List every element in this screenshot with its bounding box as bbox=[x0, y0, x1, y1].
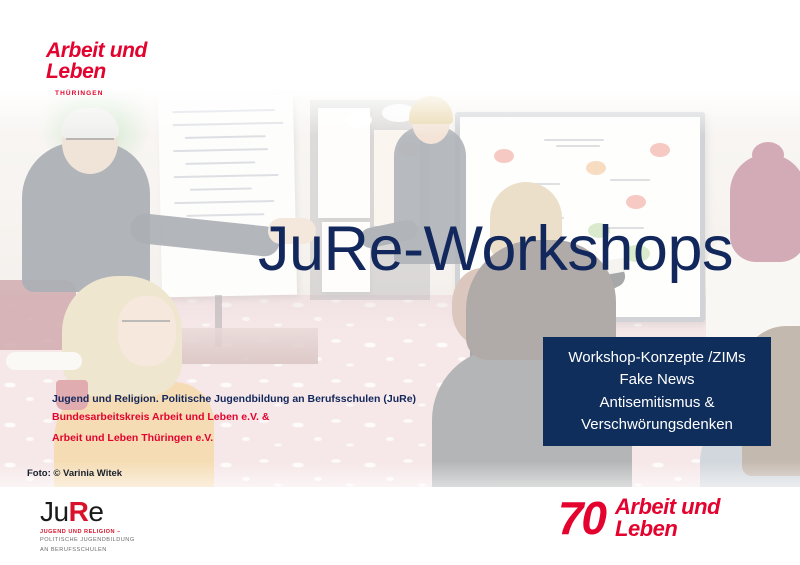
jure-r: R bbox=[69, 496, 89, 527]
jure-wordmark: JuRe bbox=[40, 498, 135, 526]
jure-subtitle-1: JUGEND UND RELIGION – bbox=[40, 529, 135, 535]
credit-organisation-2: Arbeit und Leben Thüringen e.V. bbox=[52, 430, 416, 448]
topic-line-2: Fake News bbox=[619, 369, 694, 392]
anniversary-wordmark: Arbeit und Leben bbox=[615, 496, 720, 540]
anniversary-line1: Arbeit und bbox=[615, 496, 720, 518]
jure-ju: Ju bbox=[40, 496, 69, 527]
jure-subtitle-3: AN BERUFSSCHULEN bbox=[40, 546, 135, 555]
jure-logo: JuRe JUGEND UND RELIGION – POLITISCHE JU… bbox=[40, 498, 135, 554]
slide-title: JuRe-Workshops bbox=[258, 216, 733, 282]
header-logo-region: THÜRINGEN bbox=[55, 90, 147, 97]
topic-line-3: Antisemitismus & bbox=[599, 392, 714, 415]
presentation-slide: Arbeit und Leben THÜRINGEN bbox=[0, 0, 800, 565]
header-logo-line2: Leben bbox=[46, 61, 147, 82]
credit-project-name: Jugend und Religion. Politische Jugendbi… bbox=[52, 391, 416, 409]
anniversary-number: 70 bbox=[558, 495, 605, 541]
topics-box: Workshop-Konzepte /ZIMs Fake News Antise… bbox=[543, 337, 771, 446]
header-logo-line1: Arbeit und bbox=[46, 40, 147, 61]
arbeit-und-leben-header-logo: Arbeit und Leben THÜRINGEN bbox=[46, 40, 147, 97]
credit-organisation-1: Bundesarbeitskreis Arbeit und Leben e.V.… bbox=[52, 409, 416, 427]
jure-e: e bbox=[88, 496, 103, 527]
jure-subtitle-2: POLITISCHE JUGENDBILDUNG bbox=[40, 536, 135, 545]
topic-line-1: Workshop-Konzepte /ZIMs bbox=[568, 347, 745, 370]
project-credits: Jugend und Religion. Politische Jugendbi… bbox=[52, 391, 416, 448]
anniversary-logo: 70 Arbeit und Leben bbox=[558, 495, 720, 541]
photo-credit: Foto: © Varinia Witek bbox=[27, 468, 122, 479]
anniversary-line2: Leben bbox=[615, 518, 720, 540]
topic-line-4: Verschwörungsdenken bbox=[581, 414, 733, 437]
